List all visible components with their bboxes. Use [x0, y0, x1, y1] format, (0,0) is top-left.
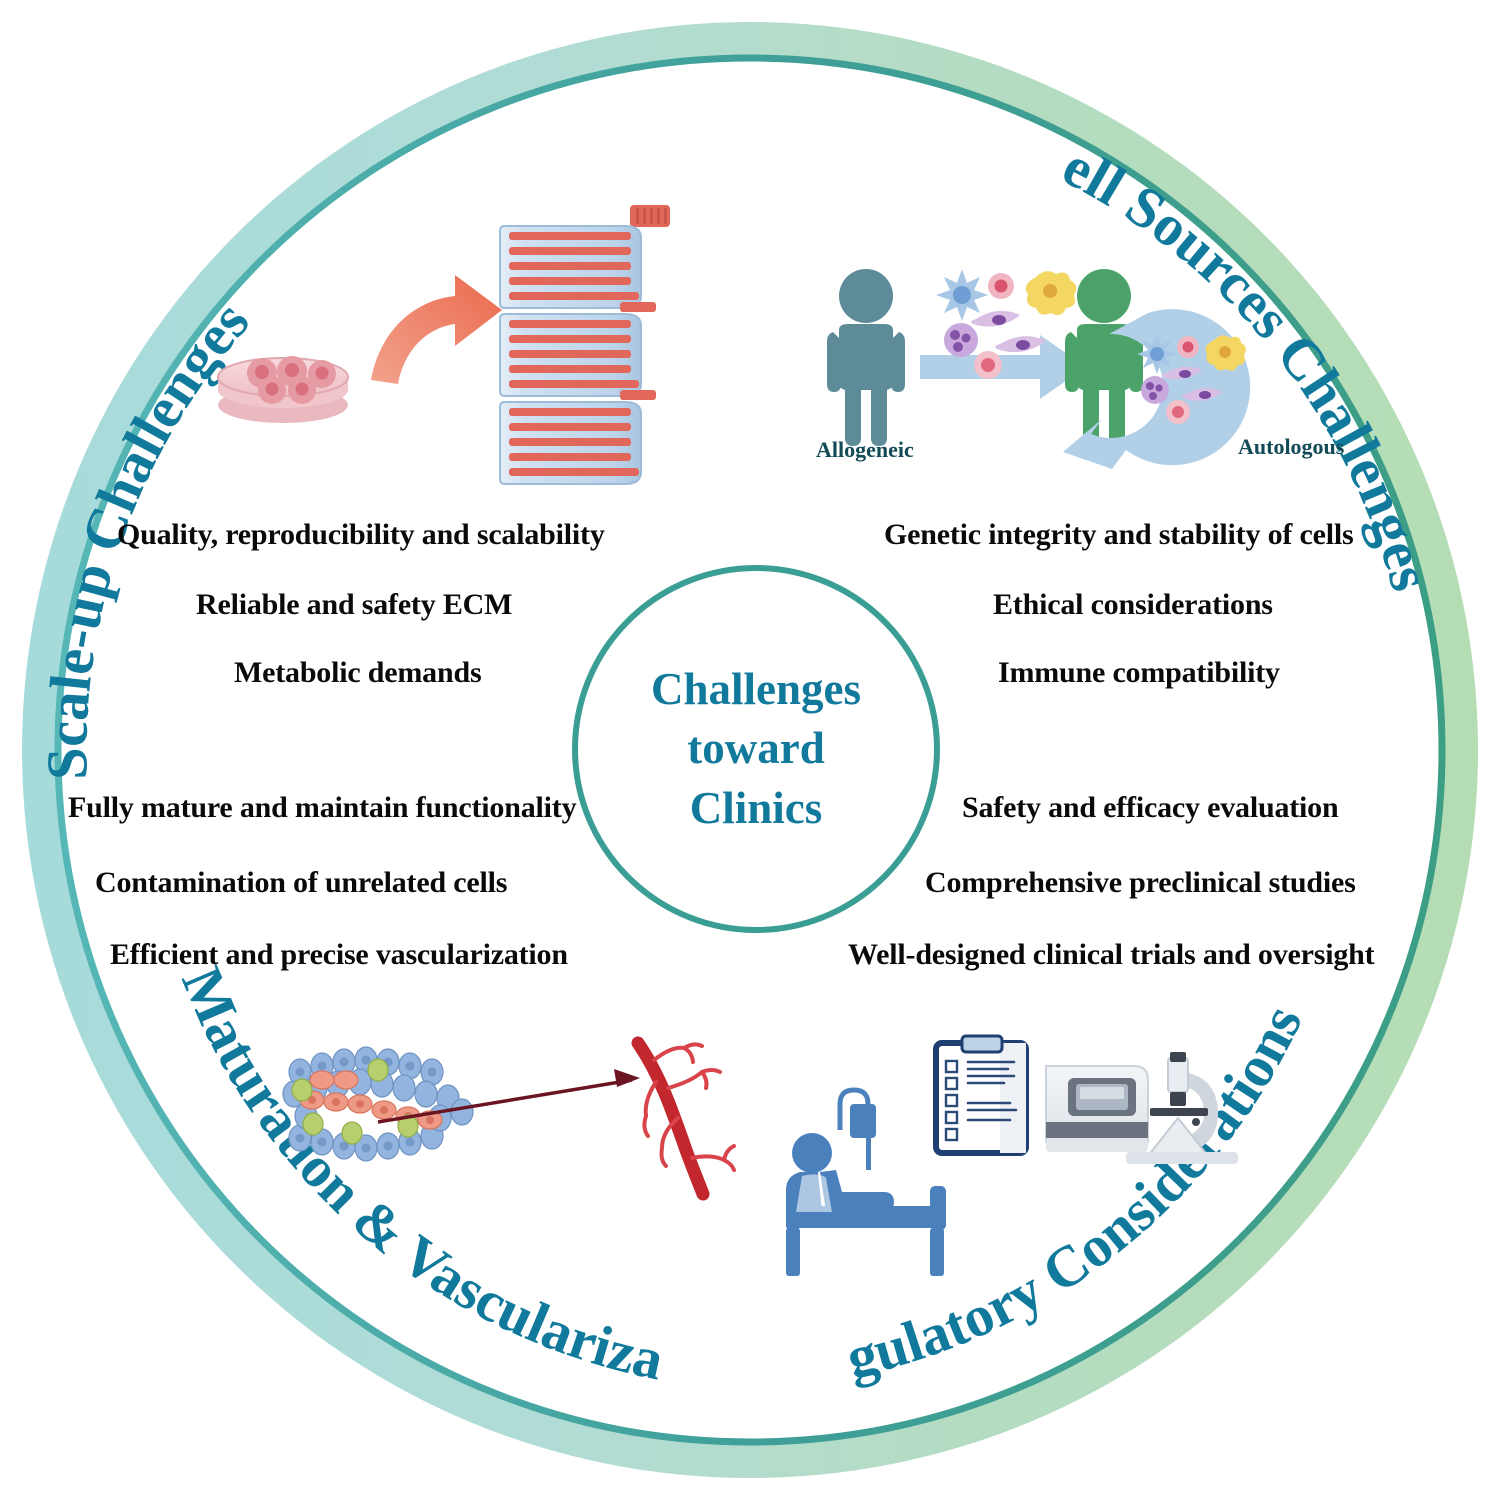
bullet-regulatory-2: Comprehensive preclinical studies [925, 866, 1356, 900]
bullet-scaleup-1: Quality, reproducibility and scalability [117, 518, 605, 552]
lab-analyzer-icon [1046, 1066, 1148, 1152]
bullet-cellsources-1: Genetic integrity and stability of cells [884, 518, 1353, 552]
bullet-regulatory-3: Well-designed clinical trials and oversi… [848, 938, 1374, 972]
bullet-maturation-1: Fully mature and maintain functionality [68, 791, 576, 825]
center-label: Challenges toward Clinics [575, 570, 937, 928]
bullet-regulatory-1: Safety and efficacy evaluation [962, 791, 1338, 825]
label-allogeneic: Allogeneic [816, 437, 914, 463]
petri-dish-icon [218, 356, 348, 423]
center-line-3: Clinics [690, 779, 823, 838]
bullet-cellsources-3: Immune compatibility [998, 656, 1280, 690]
clipboard-checklist-icon [936, 1036, 1026, 1153]
bullet-maturation-2: Contamination of unrelated cells [95, 866, 507, 900]
bullet-maturation-3: Efficient and precise vascularization [110, 938, 568, 972]
bullet-scaleup-2: Reliable and safety ECM [196, 588, 512, 622]
diagram-canvas: Scale-up Challenges Cell Sources Challen… [0, 0, 1500, 1500]
center-line-1: Challenges [651, 660, 861, 719]
center-line-2: toward [687, 719, 824, 778]
bullet-scaleup-3: Metabolic demands [234, 656, 481, 690]
bullet-cellsources-2: Ethical considerations [993, 588, 1273, 622]
label-autologous: Autologous [1238, 434, 1344, 460]
